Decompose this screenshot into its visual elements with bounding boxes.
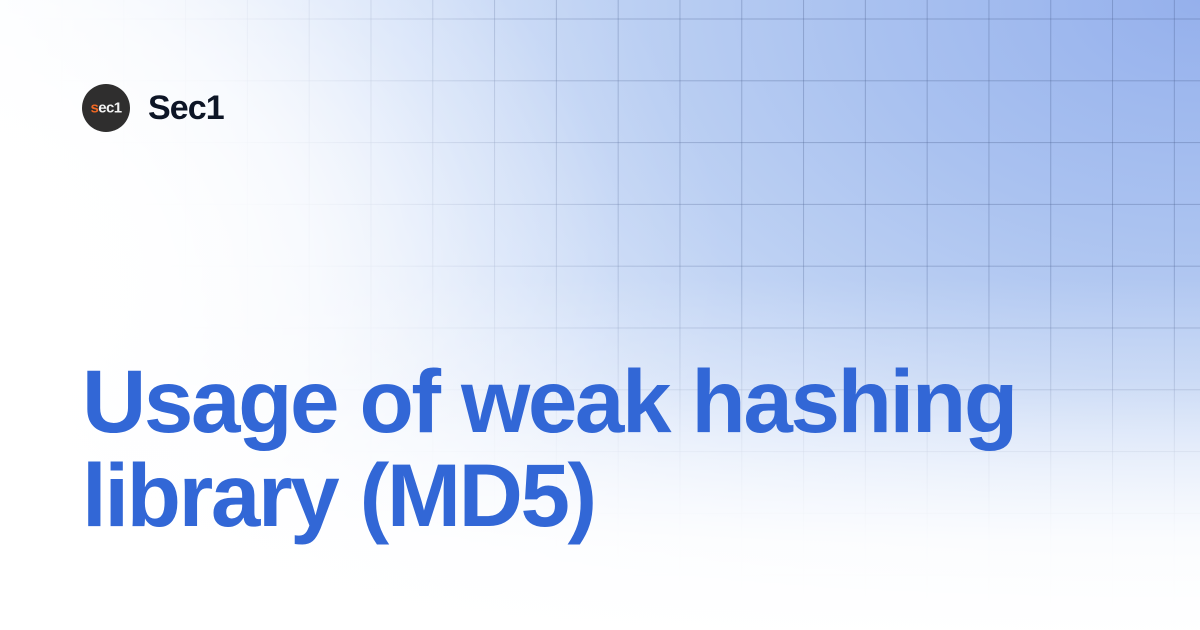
- og-card-canvas: sec1 Sec1 Usage of weak hashing library …: [0, 0, 1200, 630]
- card-content: sec1 Sec1 Usage of weak hashing library …: [0, 0, 1200, 630]
- logo-wordmark-s: s: [91, 99, 99, 116]
- sec1-logo-icon: sec1: [82, 84, 130, 132]
- logo-wordmark-ec1: ec1: [98, 99, 121, 116]
- page-title: Usage of weak hashing library (MD5): [82, 354, 1142, 542]
- brand-lockup: sec1 Sec1: [82, 84, 224, 132]
- logo-wordmark: sec1: [91, 100, 122, 115]
- brand-name: Sec1: [148, 91, 224, 125]
